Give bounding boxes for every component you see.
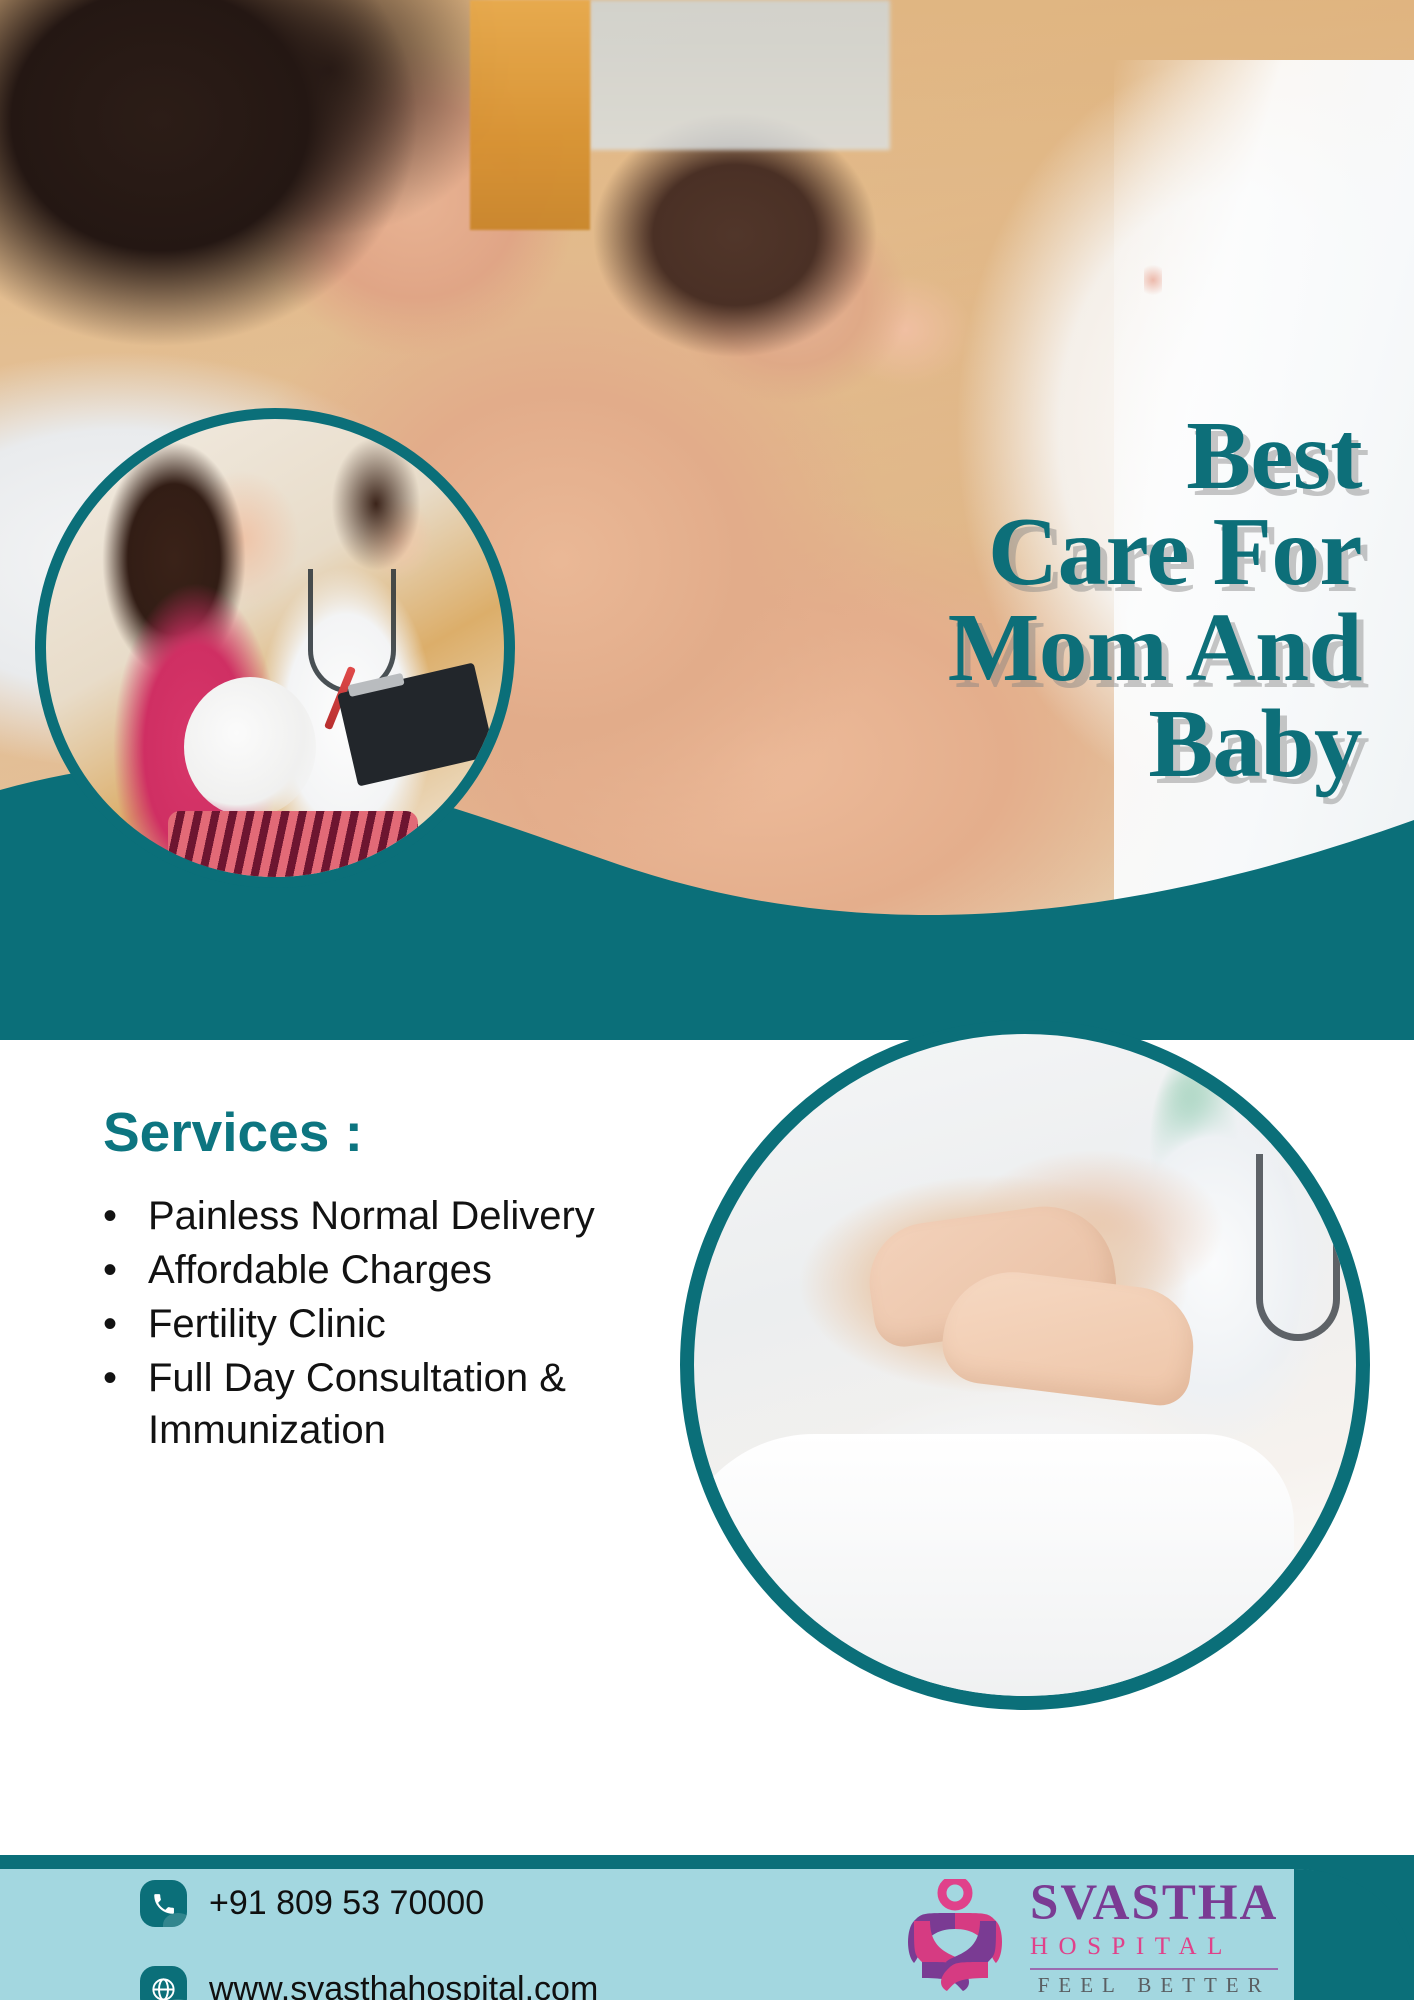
phone-icon xyxy=(140,1880,187,1927)
headline-line-1: Best xyxy=(702,408,1362,504)
circle-photo-prenatal-consultation xyxy=(35,408,515,888)
poster-canvas: Best Care For Mom And Baby Services : •P… xyxy=(0,0,1414,2000)
list-item: •Painless Normal Delivery xyxy=(148,1190,618,1242)
contact-website-row[interactable]: www.svasthahospital.com xyxy=(140,1966,598,2000)
phone-number: +91 809 53 70000 xyxy=(209,1884,484,1923)
circle-photo-hands-on-belly xyxy=(680,1020,1370,1710)
services-list: •Painless Normal Delivery •Affordable Ch… xyxy=(103,1190,618,1458)
logo-tagline: FEEL BETTER xyxy=(1030,1975,1278,1996)
list-item: •Fertility Clinic xyxy=(148,1298,618,1350)
pregnant-belly-shape xyxy=(184,677,316,817)
contact-phone-row[interactable]: +91 809 53 70000 xyxy=(140,1880,484,1927)
list-item: •Full Day Consultation & Immunization xyxy=(148,1352,618,1456)
services-heading: Services : xyxy=(103,1100,363,1164)
bullet-icon: • xyxy=(103,1358,148,1398)
headline-line-4: Baby xyxy=(702,696,1362,792)
list-item-label: Full Day Consultation & Immunization xyxy=(148,1356,566,1452)
bed-sheet-shape xyxy=(680,1434,1294,1710)
logo-brand-name: SVASTHA xyxy=(1030,1878,1278,1929)
list-item-label: Painless Normal Delivery xyxy=(148,1194,595,1238)
hand-shape-lower xyxy=(938,1264,1200,1409)
poster-headline: Best Care For Mom And Baby xyxy=(702,408,1362,792)
list-item-label: Fertility Clinic xyxy=(148,1302,386,1346)
bullet-icon: • xyxy=(103,1196,148,1236)
website-url: www.svasthahospital.com xyxy=(209,1970,598,2000)
logo-divider xyxy=(1030,1968,1278,1970)
bullet-icon: • xyxy=(103,1250,148,1290)
logo-brand-sub: HOSPITAL xyxy=(1030,1931,1278,1962)
globe-icon xyxy=(140,1966,187,2000)
list-item: •Affordable Charges xyxy=(148,1244,618,1296)
list-item-label: Affordable Charges xyxy=(148,1248,492,1292)
logo-wordmark: SVASTHA HOSPITAL FEEL BETTER xyxy=(1030,1878,1278,1996)
headline-line-3: Mom And xyxy=(702,600,1362,696)
brand-logo: SVASTHA HOSPITAL FEEL BETTER xyxy=(900,1878,1278,1996)
bullet-icon: • xyxy=(103,1304,148,1344)
striped-skirt-shape xyxy=(168,811,418,888)
stethoscope-icon xyxy=(1256,1154,1340,1341)
headline-line-2: Care For xyxy=(702,504,1362,600)
hero-door-frame-blur xyxy=(470,0,590,230)
hero-wall-blur xyxy=(590,0,890,150)
pinwheel-person-icon xyxy=(900,1879,1010,1995)
